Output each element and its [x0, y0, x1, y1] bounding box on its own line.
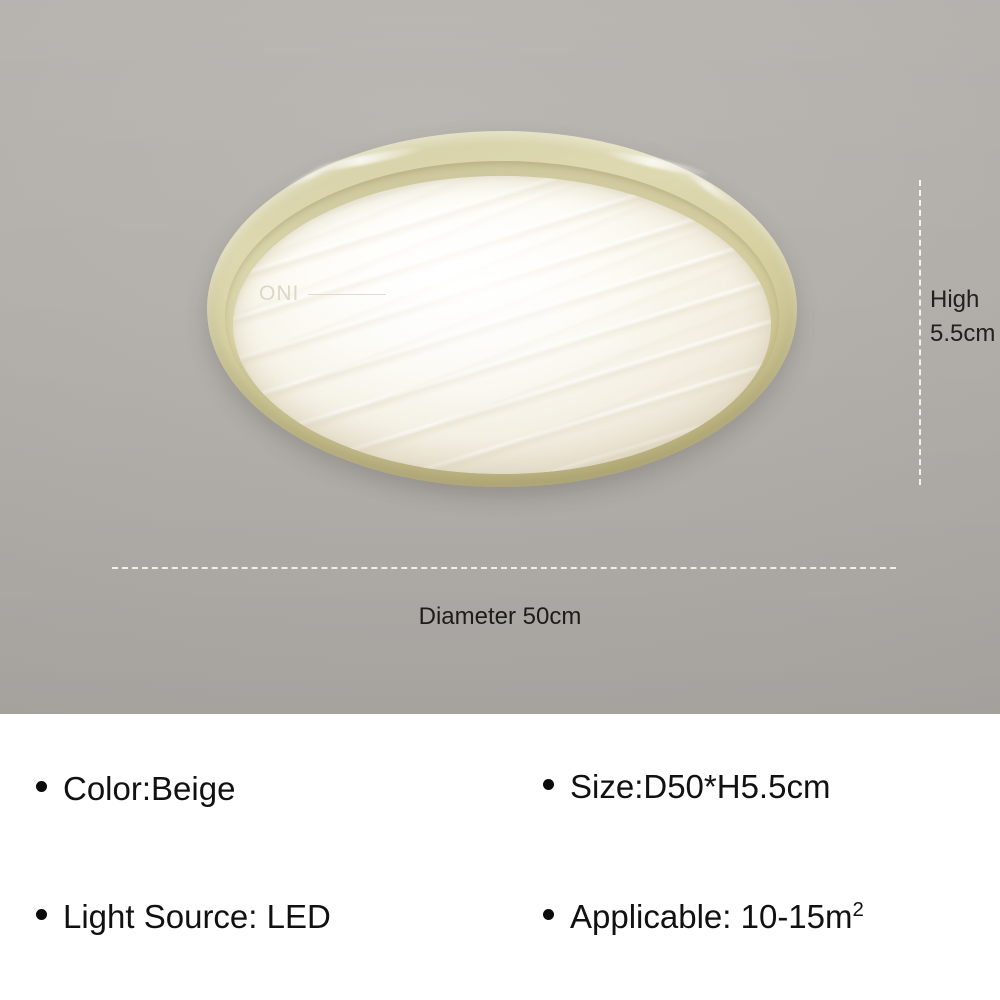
spec-item-label: Applicable: 10-15m2	[570, 898, 864, 936]
bullet-icon	[36, 781, 47, 792]
spec-item-label: Size:D50*H5.5cm	[570, 768, 830, 806]
diffuser-edge-vignette	[233, 176, 771, 474]
product-image-page: ONI High 5.5cm Diameter 50cm Color:Beige…	[0, 0, 1000, 1000]
diameter-dimension-dashed-line	[112, 567, 896, 569]
spec-item-label: Color:Beige	[63, 770, 235, 808]
specification-panel: Color:Beige Size:D50*H5.5cm Light Source…	[0, 714, 1000, 1000]
ceiling-lamp-product: ONI	[207, 131, 797, 487]
brand-watermark: ONI	[259, 282, 386, 306]
height-label-line-2: 5.5cm	[930, 317, 1000, 351]
bullet-icon	[543, 779, 554, 790]
product-photo: ONI High 5.5cm Diameter 50cm	[0, 0, 1000, 714]
bullet-icon	[543, 909, 554, 920]
height-dimension-dashed-line	[919, 180, 921, 485]
spec-item-color: Color:Beige	[36, 770, 235, 808]
diameter-dimension-label: Diameter 50cm	[0, 603, 1000, 631]
spec-item-label-text: Applicable: 10-15m	[570, 898, 853, 935]
height-dimension-label: High 5.5cm	[930, 283, 1000, 351]
lamp-white-diffuser: ONI	[233, 176, 771, 474]
brand-watermark-line	[308, 294, 386, 295]
spec-item-light-source: Light Source: LED	[36, 898, 331, 936]
spec-item-size: Size:D50*H5.5cm	[543, 768, 830, 806]
spec-item-label: Light Source: LED	[63, 898, 331, 936]
spec-item-label-superscript: 2	[853, 898, 864, 921]
height-label-line-1: High	[930, 283, 1000, 317]
brand-watermark-text: ONI	[259, 282, 299, 306]
spec-item-applicable-area: Applicable: 10-15m2	[543, 898, 864, 936]
bullet-icon	[36, 909, 47, 920]
